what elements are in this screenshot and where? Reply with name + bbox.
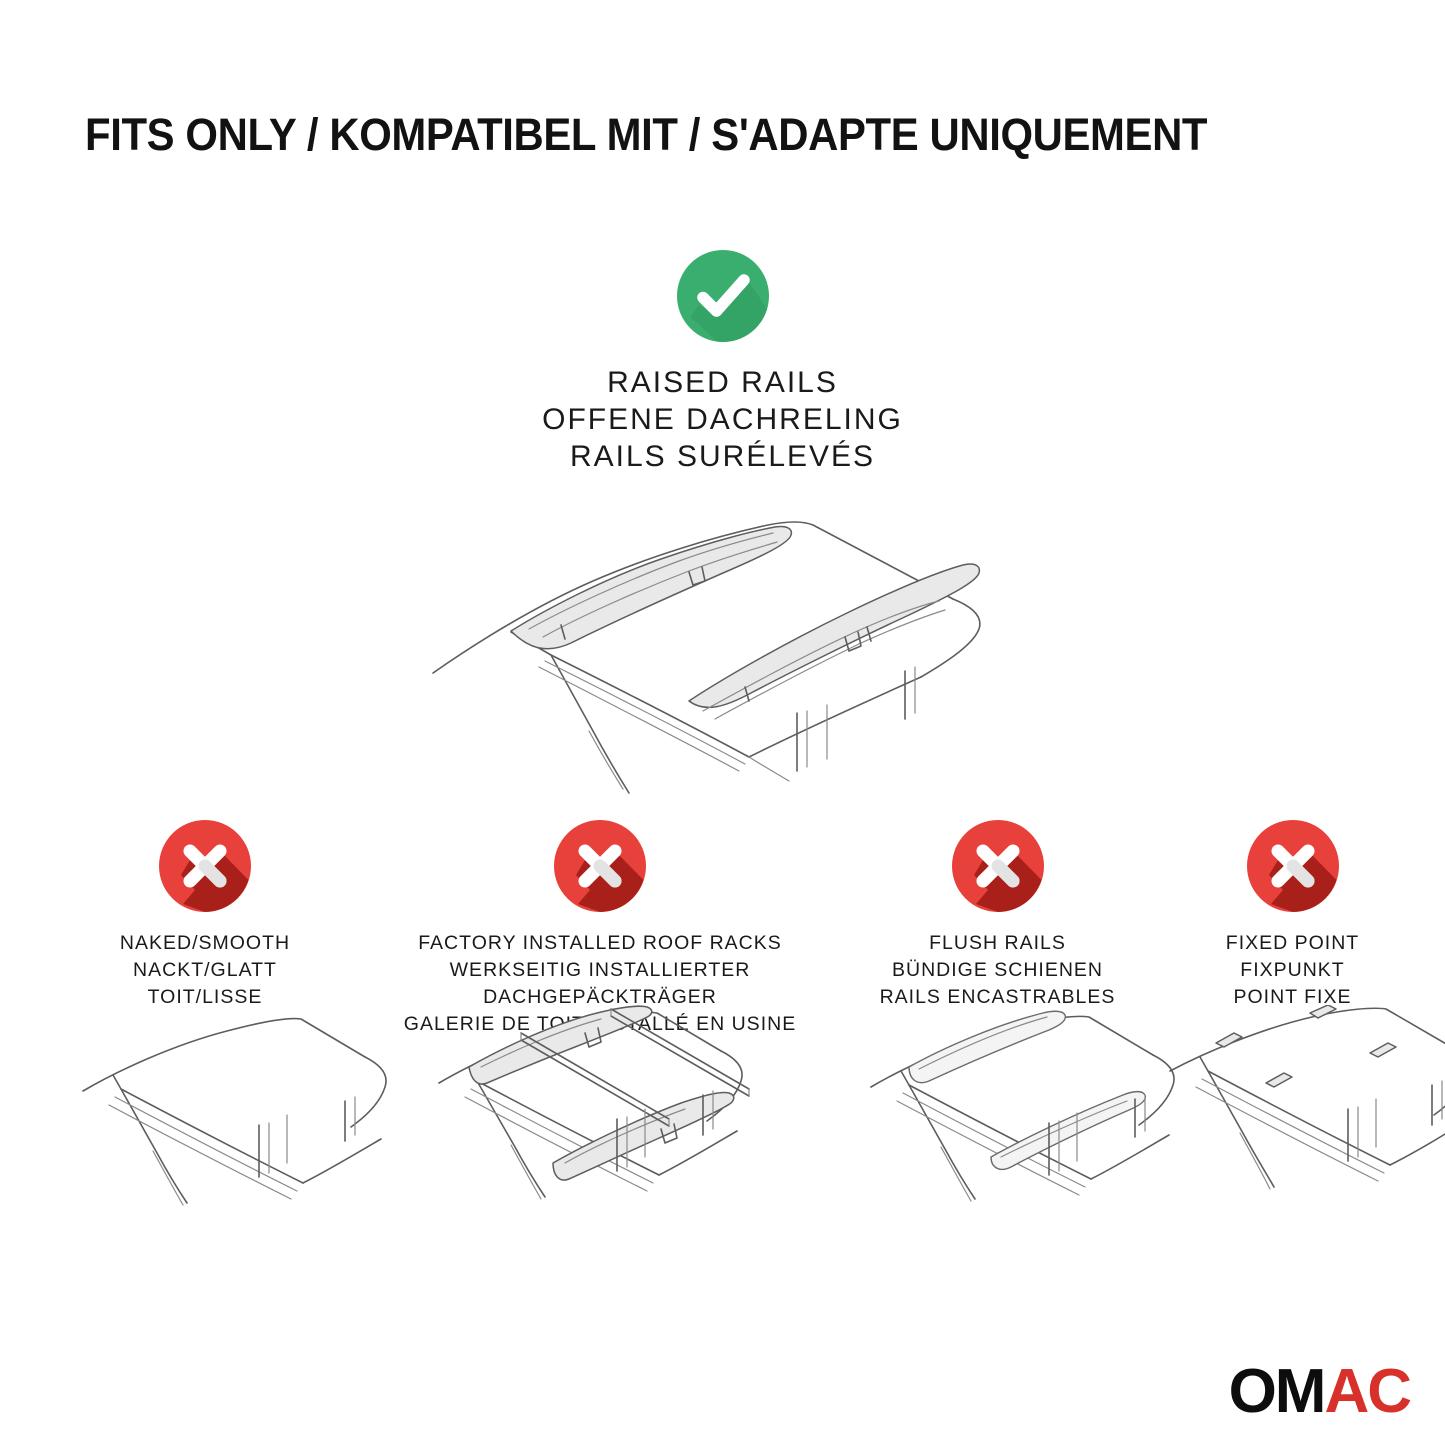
car-roof-naked-smooth-illustration [65, 1005, 345, 1220]
red-x-circle-icon [554, 820, 646, 912]
green-check-circle-icon [677, 250, 769, 342]
column-icon-wrap [1160, 820, 1425, 916]
incompatible-item-naked-smooth: NAKED/SMOOTH NACKT/GLATT TOIT/LISSE [65, 820, 345, 1011]
compatible-label-line: OFFENE DACHRELING [0, 401, 1445, 438]
incompatible-item-factory-installed-roof-racks: FACTORY INSTALLED ROOF RACKS WERKSEITIG … [370, 820, 830, 1038]
compatible-icon-wrap [0, 250, 1445, 342]
column-label-line: BÜNDIGE SCHIENEN [855, 957, 1140, 984]
compatible-label: RAISED RAILS OFFENE DACHRELING RAILS SUR… [0, 364, 1445, 475]
compatible-label-line: RAISED RAILS [0, 364, 1445, 401]
car-roof-flush-rails-illustration [855, 1005, 1140, 1220]
column-label: NAKED/SMOOTH NACKT/GLATT TOIT/LISSE [65, 930, 345, 1011]
car-roof-raised-rails-illustration [393, 495, 1053, 795]
incompatible-section: NAKED/SMOOTH NACKT/GLATT TOIT/LISSE [0, 820, 1445, 1250]
incompatible-item-flush-rails: FLUSH RAILS BÜNDIGE SCHIENEN RAILS ENCAS… [855, 820, 1140, 1011]
compatible-section: RAISED RAILS OFFENE DACHRELING RAILS SUR… [0, 250, 1445, 475]
column-label-line: FIXED POINT [1160, 930, 1425, 957]
column-label-line: FLUSH RAILS [855, 930, 1140, 957]
column-label-line: NACKT/GLATT [65, 957, 345, 984]
red-x-circle-icon [952, 820, 1044, 912]
compatible-label-line: RAILS SURÉLEVÉS [0, 438, 1445, 475]
column-label-line: FIXPUNKT [1160, 957, 1425, 984]
car-roof-fixed-point-illustration [1160, 1005, 1425, 1220]
logo-text-dark: OM [1229, 1357, 1325, 1426]
column-label-line: NAKED/SMOOTH [65, 930, 345, 957]
incompatible-item-fixed-point: FIXED POINT FIXPUNKT POINT FIXE [1160, 820, 1425, 1011]
column-icon-wrap [65, 820, 345, 916]
column-label-line: FACTORY INSTALLED ROOF RACKS [370, 930, 830, 957]
column-label: FLUSH RAILS BÜNDIGE SCHIENEN RAILS ENCAS… [855, 930, 1140, 1011]
column-icon-wrap [370, 820, 830, 916]
omac-logo: OMAC [1229, 1361, 1410, 1423]
red-x-circle-icon [159, 820, 251, 912]
compatibility-infographic: FITS ONLY / KOMPATIBEL MIT / S'ADAPTE UN… [0, 0, 1445, 1445]
red-x-circle-icon [1247, 820, 1339, 912]
car-roof-factory-rack-illustration [370, 1005, 830, 1230]
column-icon-wrap [855, 820, 1140, 916]
column-label-line: WERKSEITIG INSTALLIERTER [370, 957, 830, 984]
page-title: FITS ONLY / KOMPATIBEL MIT / S'ADAPTE UN… [85, 107, 1285, 163]
logo-text-red: AC [1324, 1357, 1410, 1426]
column-label: FIXED POINT FIXPUNKT POINT FIXE [1160, 930, 1425, 1011]
